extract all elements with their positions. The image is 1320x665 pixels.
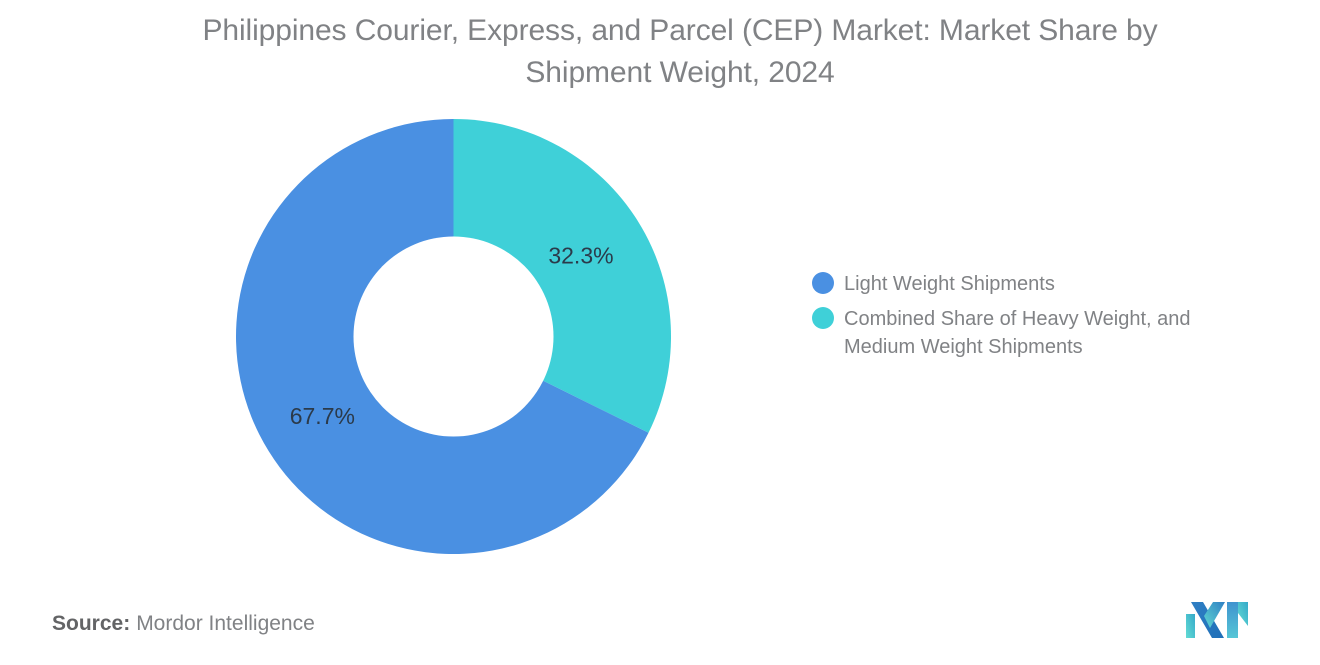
donut-hole [354, 237, 554, 437]
source-label: Source: [52, 612, 130, 635]
donut-chart: 32.3% 67.7% [236, 119, 671, 554]
donut-chart-svg: 32.3% 67.7% [236, 119, 671, 554]
legend-item-combined[interactable]: Combined Share of Heavy Weight, and Medi… [812, 305, 1252, 361]
legend-swatch-icon [812, 272, 834, 294]
source-line: Source:Mordor Intelligence [52, 612, 315, 636]
legend-item-label: Combined Share of Heavy Weight, and Medi… [844, 305, 1244, 361]
page-title: Philippines Courier, Express, and Parcel… [150, 10, 1210, 94]
legend-item-light-weight[interactable]: Light Weight Shipments [812, 270, 1252, 298]
data-label-light-weight: 67.7% [290, 403, 355, 429]
source-value: Mordor Intelligence [136, 612, 315, 635]
legend-item-label: Light Weight Shipments [844, 270, 1055, 298]
chart-legend: Light Weight Shipments Combined Share of… [812, 270, 1252, 368]
legend-swatch-icon [812, 307, 834, 329]
mordor-intelligence-logo-icon [1186, 598, 1252, 640]
data-label-combined: 32.3% [548, 242, 613, 268]
